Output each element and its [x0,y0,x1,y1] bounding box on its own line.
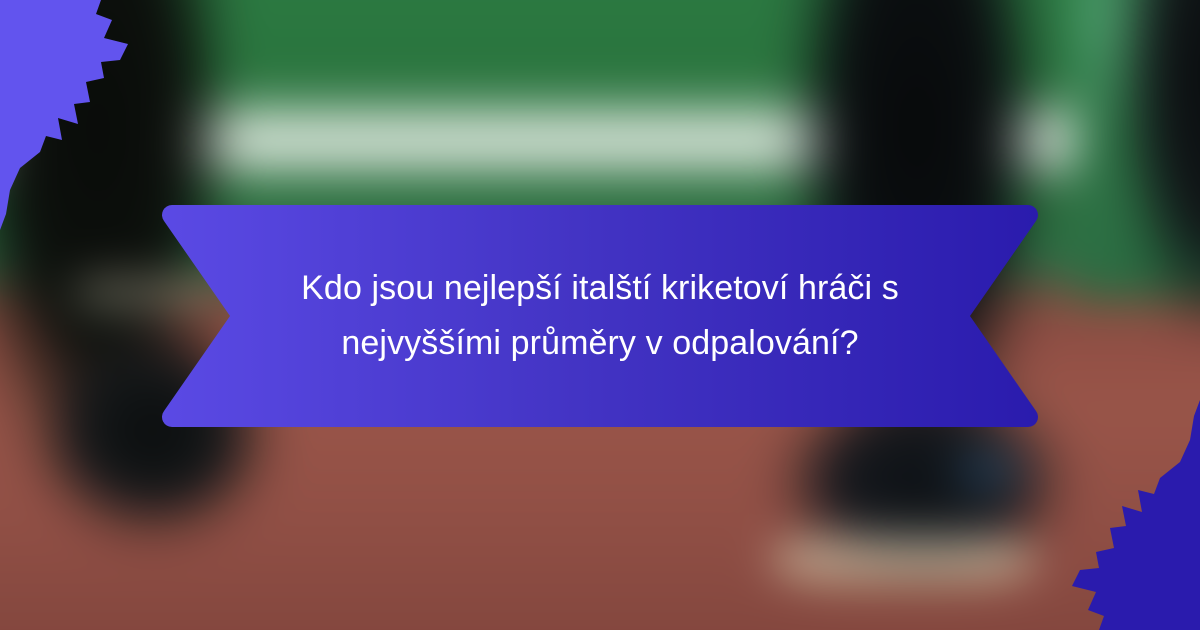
player-leg-right [1115,0,1200,330]
social-share-card: Kdo jsou nejlepší italští kriketoví hráč… [0,0,1200,630]
headline-banner: Kdo jsou nejlepší italští kriketoví hráč… [108,197,1092,435]
shoe-blue-accent [943,435,1035,503]
headline-text: Kdo jsou nejlepší italští kriketoví hráč… [250,261,950,371]
shoe-sole-right [772,525,1036,593]
